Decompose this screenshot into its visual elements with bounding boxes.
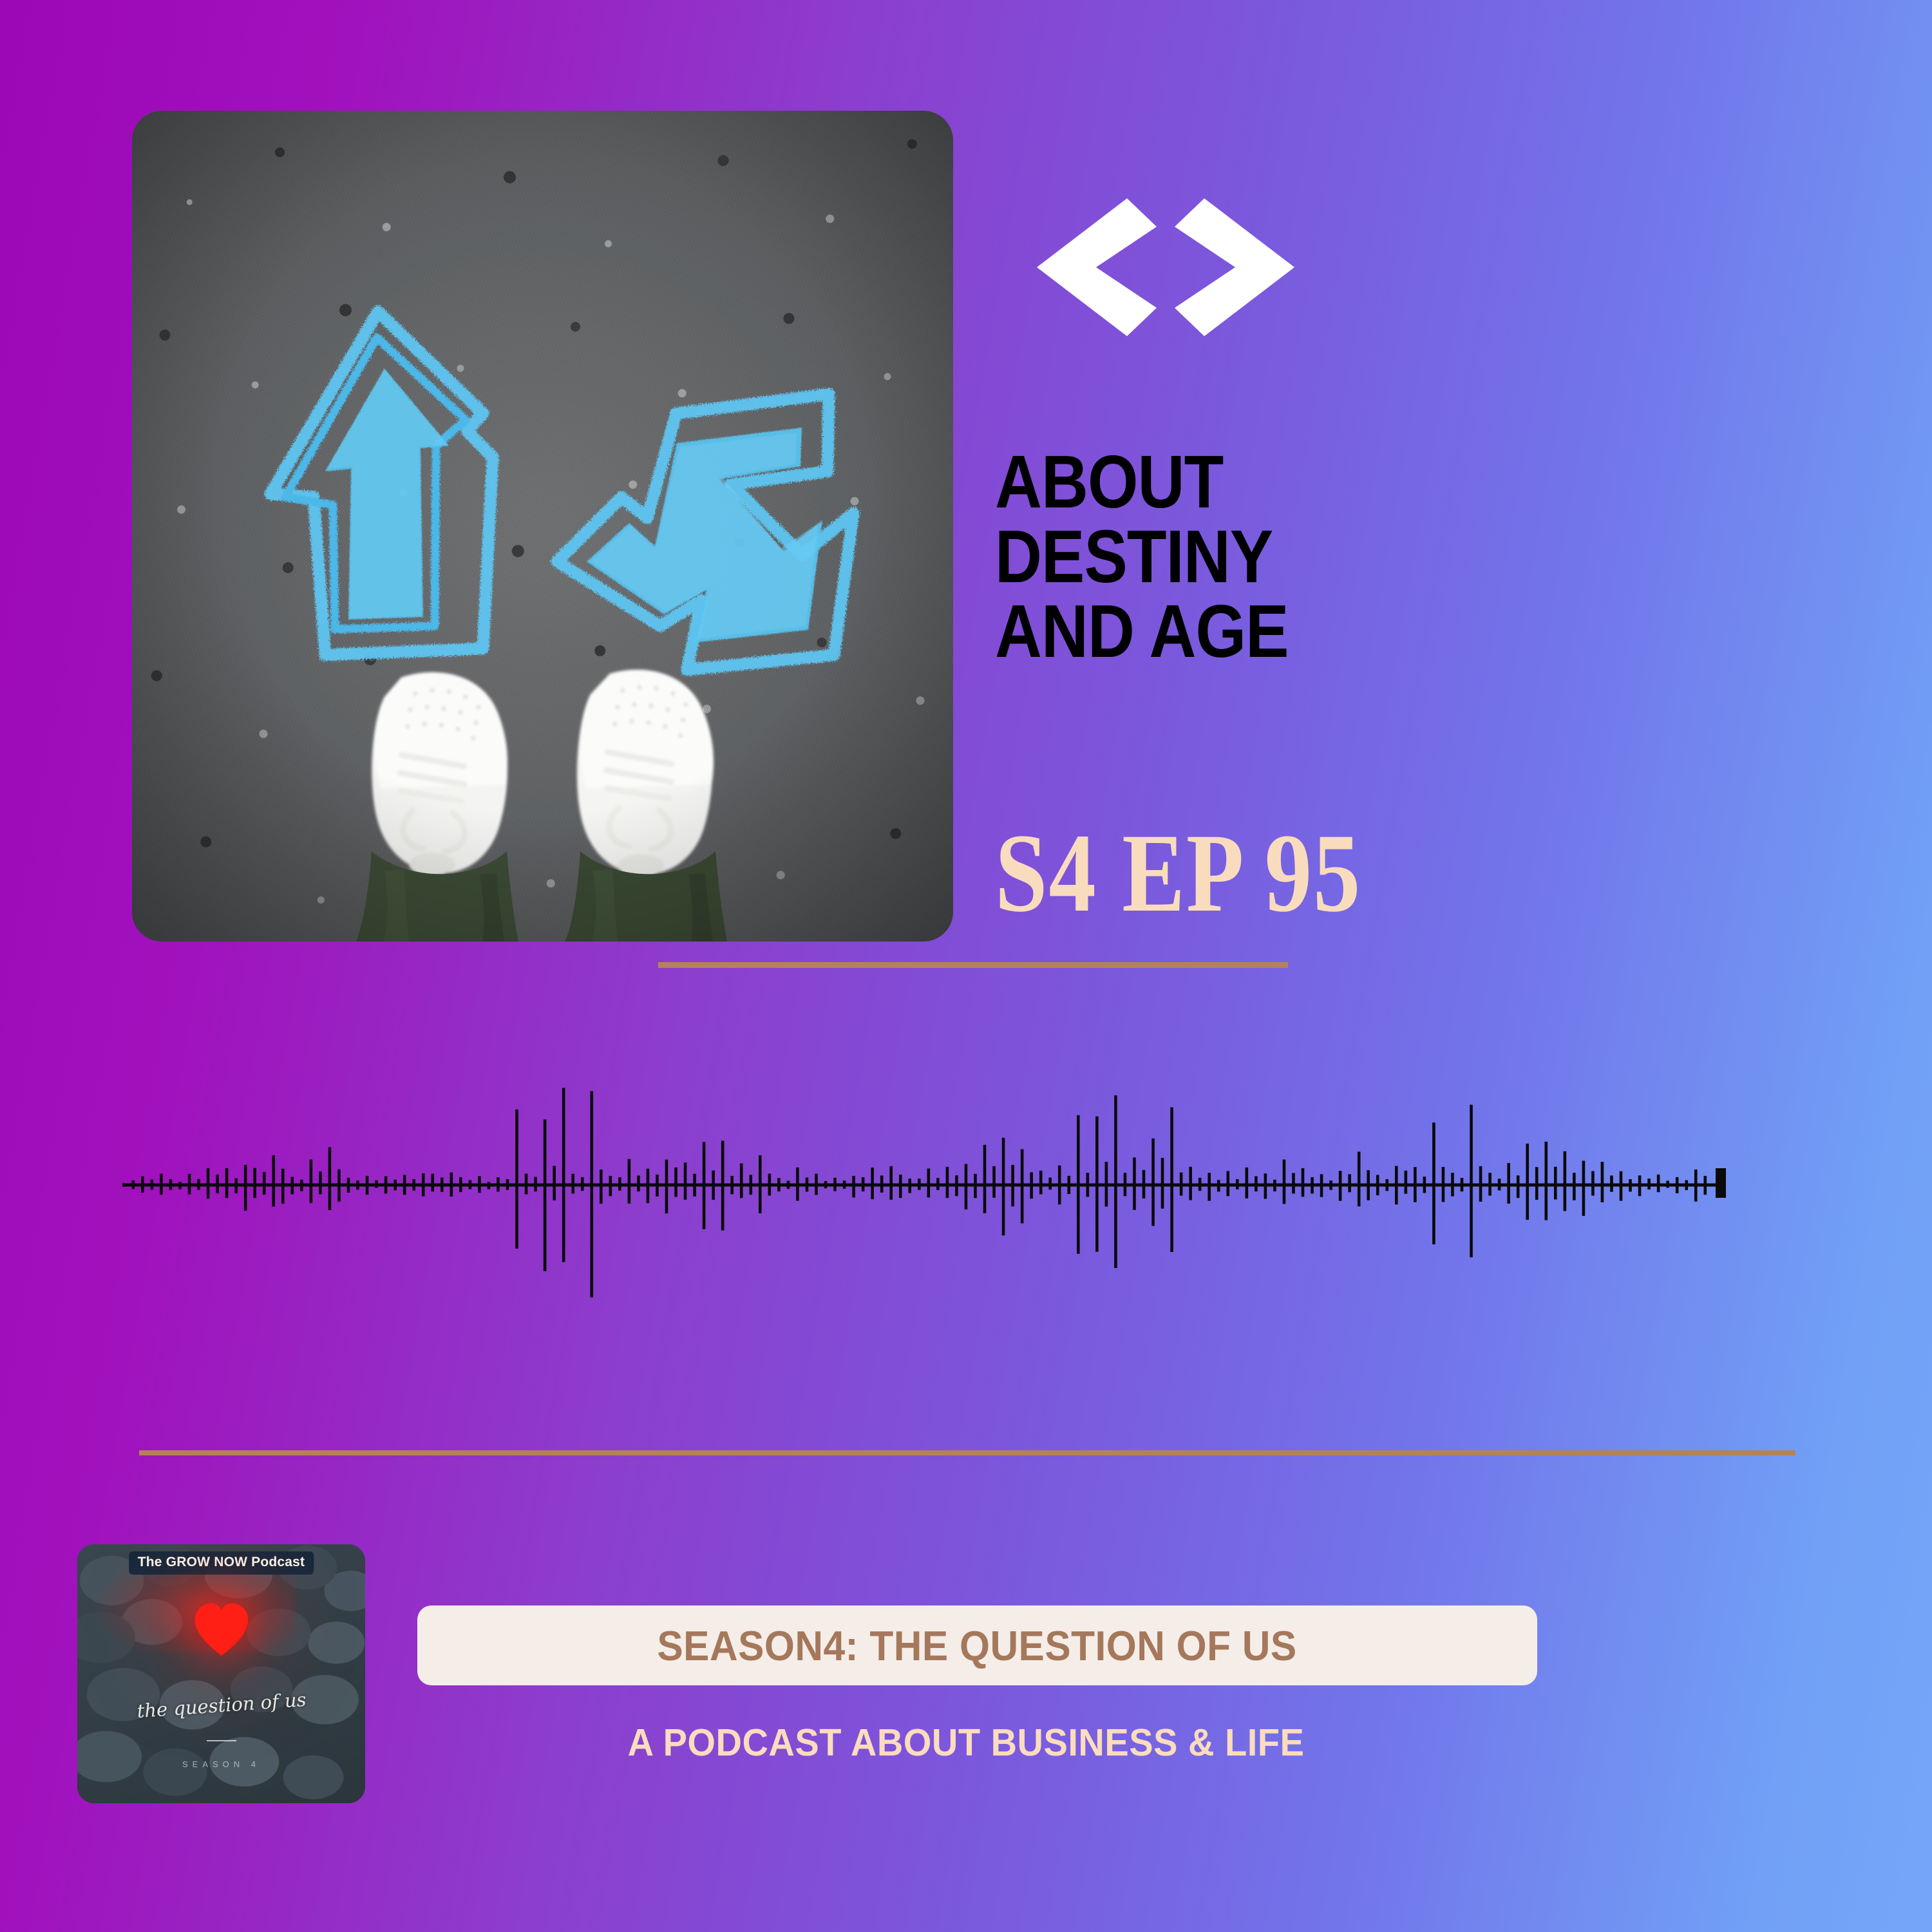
waveform-bar bbox=[862, 1177, 865, 1191]
waveform-bar bbox=[319, 1171, 322, 1194]
waveform-bar bbox=[1376, 1175, 1379, 1195]
waveform-bar bbox=[562, 1088, 565, 1262]
waveform-bar bbox=[1002, 1138, 1005, 1236]
waveform-bar bbox=[337, 1170, 341, 1202]
waveform-bar bbox=[525, 1174, 528, 1195]
waveform-bar bbox=[647, 1169, 650, 1203]
waveform-bar bbox=[281, 1169, 285, 1204]
waveform-bar bbox=[1311, 1177, 1314, 1194]
waveform-bar bbox=[918, 1179, 921, 1190]
waveform-bar bbox=[1666, 1180, 1669, 1188]
waveform-bar bbox=[1048, 1177, 1052, 1189]
waveform-bar bbox=[740, 1163, 743, 1198]
waveform-bar bbox=[1329, 1180, 1332, 1190]
waveform-bar bbox=[1638, 1175, 1642, 1196]
waveform-bar bbox=[478, 1176, 481, 1193]
divider-long bbox=[139, 1450, 1795, 1455]
waveform-bar bbox=[188, 1174, 191, 1195]
waveform-bar bbox=[1114, 1095, 1117, 1268]
waveform-bar bbox=[384, 1177, 388, 1194]
waveform-bar bbox=[1236, 1179, 1239, 1189]
waveform-bar bbox=[403, 1175, 406, 1195]
waveform-bar bbox=[1573, 1173, 1576, 1200]
waveform-bar bbox=[469, 1180, 472, 1189]
waveform-bar bbox=[843, 1180, 846, 1189]
waveform-bar bbox=[534, 1177, 537, 1191]
waveform-bar bbox=[1358, 1151, 1361, 1206]
waveform-bar bbox=[1535, 1167, 1539, 1200]
waveform-bar bbox=[488, 1182, 491, 1189]
waveform-bar bbox=[1161, 1158, 1164, 1209]
waveform-bar bbox=[1657, 1175, 1660, 1192]
waveform-bar bbox=[1498, 1179, 1501, 1190]
waveform-bar bbox=[1629, 1179, 1632, 1191]
waveform-bar bbox=[983, 1145, 987, 1213]
waveform-bar bbox=[412, 1179, 415, 1191]
waveform-bar bbox=[1348, 1174, 1351, 1192]
waveform-bar bbox=[1694, 1170, 1698, 1202]
waveform-bar bbox=[806, 1177, 809, 1191]
waveform-bar bbox=[1461, 1178, 1464, 1191]
waveform-bar bbox=[393, 1180, 397, 1191]
waveform-bar bbox=[1170, 1107, 1173, 1252]
waveform-bar bbox=[590, 1091, 593, 1297]
podcast-tagline: A PODCAST ABOUT BUSINESS & LIFE bbox=[0, 1721, 1932, 1765]
waveform-bar bbox=[693, 1174, 696, 1197]
waveform-bar bbox=[1517, 1175, 1520, 1198]
waveform-bar bbox=[1077, 1115, 1080, 1254]
waveform-bar bbox=[674, 1168, 677, 1197]
waveform-bar bbox=[946, 1167, 949, 1198]
season-badge-label: SEASON4: THE QUESTION OF US bbox=[658, 1622, 1297, 1670]
waveform-end-marker bbox=[1716, 1168, 1726, 1198]
waveform-bar bbox=[225, 1168, 229, 1198]
waveform-bar bbox=[992, 1166, 996, 1198]
waveform-bar bbox=[160, 1174, 163, 1195]
waveform-bar bbox=[1226, 1171, 1229, 1196]
waveform-bar bbox=[1395, 1166, 1398, 1204]
waveform-bar bbox=[1320, 1174, 1323, 1197]
waveform-bar bbox=[1479, 1166, 1482, 1202]
waveform-bar bbox=[1339, 1171, 1342, 1201]
waveform-bar bbox=[759, 1155, 762, 1213]
waveform-bar bbox=[974, 1174, 977, 1198]
waveform-bar bbox=[1030, 1172, 1033, 1198]
waveform-bar bbox=[1086, 1173, 1090, 1197]
waveform-bar bbox=[553, 1166, 556, 1200]
waveform-bar bbox=[431, 1174, 434, 1191]
waveform-bar bbox=[1470, 1104, 1473, 1257]
waveform-baseline bbox=[122, 1184, 1725, 1187]
waveform-bar bbox=[151, 1180, 154, 1190]
waveform-bar bbox=[1544, 1142, 1548, 1220]
waveform-bar bbox=[141, 1177, 144, 1193]
waveform-bar bbox=[581, 1177, 584, 1191]
waveform-bar bbox=[1264, 1173, 1267, 1199]
waveform-bar bbox=[366, 1176, 369, 1195]
waveform-bar bbox=[1124, 1173, 1127, 1196]
waveform-bar bbox=[703, 1142, 706, 1229]
waveform-bar bbox=[197, 1179, 200, 1190]
waveform-bar bbox=[216, 1175, 219, 1193]
episode-number: S4 EP 95 bbox=[995, 808, 1361, 938]
waveform-bar bbox=[1180, 1172, 1183, 1195]
waveform-bar bbox=[1601, 1162, 1604, 1202]
waveform-bar bbox=[936, 1178, 940, 1190]
waveform-bar bbox=[1432, 1122, 1435, 1244]
waveform-bar bbox=[749, 1175, 752, 1195]
waveform-bar bbox=[777, 1178, 781, 1191]
chalk-arrows-and-feet bbox=[132, 111, 953, 942]
waveform-bar bbox=[1620, 1171, 1623, 1201]
waveform-bar bbox=[272, 1155, 275, 1207]
waveform-bar bbox=[730, 1176, 734, 1195]
title-line-2: DESTINY bbox=[995, 519, 1723, 594]
waveform-bar bbox=[721, 1141, 724, 1230]
waveform-bar bbox=[1507, 1163, 1510, 1204]
waveform-bar bbox=[450, 1172, 453, 1197]
waveform-bar bbox=[1405, 1171, 1408, 1194]
waveform-bar bbox=[927, 1168, 931, 1197]
waveform-bar bbox=[1283, 1159, 1286, 1204]
episode-photo bbox=[132, 111, 953, 942]
waveform-bar bbox=[965, 1164, 968, 1209]
waveform-bar bbox=[1564, 1151, 1567, 1211]
waveform-bar bbox=[609, 1176, 612, 1196]
waveform-bar bbox=[768, 1174, 772, 1196]
waveform-bar bbox=[665, 1160, 668, 1214]
waveform-bar bbox=[684, 1162, 687, 1200]
waveform-bar bbox=[871, 1168, 874, 1199]
waveform-bar bbox=[544, 1119, 547, 1271]
waveform-bar bbox=[347, 1178, 350, 1193]
waveform-bar bbox=[1591, 1171, 1595, 1195]
waveform-bar bbox=[132, 1180, 135, 1189]
waveform-bar bbox=[1039, 1171, 1043, 1195]
waveform-bar bbox=[899, 1175, 902, 1198]
waveform-bar bbox=[1488, 1173, 1492, 1195]
waveform-bar bbox=[1554, 1167, 1557, 1200]
waveform-bar bbox=[1703, 1176, 1707, 1195]
waveform-bar bbox=[908, 1179, 911, 1193]
title-line-1: ABOUT bbox=[995, 444, 1723, 519]
waveform-bar bbox=[1067, 1176, 1070, 1194]
waveform-bar bbox=[1133, 1157, 1136, 1210]
waveform-bar bbox=[1442, 1167, 1445, 1202]
waveform-bar bbox=[234, 1179, 238, 1193]
waveform-bar bbox=[422, 1173, 425, 1197]
waveform-bar bbox=[1207, 1173, 1211, 1201]
waveform-bar bbox=[515, 1110, 518, 1249]
page-title: ABOUT DESTINY AND AGE bbox=[995, 444, 1723, 668]
waveform-bar bbox=[787, 1180, 790, 1189]
waveform-bar bbox=[1142, 1170, 1146, 1198]
waveform-bar bbox=[310, 1159, 313, 1203]
season-badge: SEASON4: THE QUESTION OF US bbox=[417, 1605, 1537, 1685]
waveform-bar bbox=[1414, 1167, 1417, 1202]
waveform-bar bbox=[1217, 1180, 1220, 1191]
waveform-bar bbox=[263, 1172, 266, 1195]
waveform-bar bbox=[291, 1177, 294, 1194]
waveform-bar bbox=[1676, 1177, 1679, 1193]
waveform-bar bbox=[1582, 1160, 1586, 1216]
waveform-bar bbox=[1526, 1144, 1529, 1220]
heart-icon bbox=[191, 1600, 252, 1660]
waveform-bar bbox=[600, 1170, 603, 1204]
chevron-pair-icon bbox=[1030, 193, 1301, 345]
waveform-bar bbox=[244, 1165, 247, 1211]
waveform-bar bbox=[1292, 1173, 1295, 1193]
waveform-bar bbox=[122, 1183, 126, 1187]
waveform-bar bbox=[207, 1168, 210, 1198]
waveform-bar bbox=[1451, 1173, 1454, 1197]
waveform-bar bbox=[1255, 1176, 1258, 1191]
waveform-bar bbox=[253, 1168, 256, 1198]
tagline-label: A PODCAST ABOUT BUSINESS & LIFE bbox=[628, 1721, 1305, 1765]
waveform-bar bbox=[889, 1166, 893, 1200]
waveform-bar bbox=[178, 1182, 182, 1189]
waveform-bar bbox=[356, 1180, 359, 1189]
waveform-bar bbox=[1095, 1116, 1099, 1251]
waveform-bar bbox=[375, 1180, 378, 1188]
waveform-bar bbox=[1058, 1166, 1061, 1205]
waveform-bar bbox=[852, 1176, 855, 1198]
waveform-bar bbox=[1385, 1179, 1388, 1191]
waveform-bar bbox=[300, 1180, 303, 1191]
waveform-bar bbox=[880, 1175, 884, 1192]
waveform-bar bbox=[955, 1175, 958, 1196]
waveform-bar bbox=[1189, 1167, 1192, 1200]
waveform-bar bbox=[796, 1168, 799, 1201]
waveform-bar bbox=[1423, 1177, 1426, 1193]
waveform-bar bbox=[815, 1174, 818, 1195]
waveform-bar bbox=[1367, 1170, 1370, 1200]
waveform-bar bbox=[1011, 1165, 1014, 1206]
waveform-bar bbox=[1685, 1180, 1688, 1190]
waveform-bar bbox=[656, 1175, 659, 1197]
waveform-bar bbox=[833, 1178, 837, 1191]
waveform-bar bbox=[1302, 1168, 1305, 1197]
waveform-bar bbox=[1245, 1168, 1249, 1198]
waveform-bar bbox=[618, 1177, 621, 1191]
waveform-bar bbox=[628, 1159, 631, 1204]
waveform-bar bbox=[169, 1179, 173, 1190]
waveform-bar bbox=[824, 1181, 828, 1188]
waveform-bar bbox=[440, 1177, 444, 1191]
waveform-bar bbox=[497, 1177, 500, 1191]
waveform-bar bbox=[712, 1171, 715, 1200]
waveform-bar bbox=[1151, 1139, 1155, 1226]
title-line-3: AND AGE bbox=[995, 594, 1723, 668]
waveform-bar bbox=[1610, 1175, 1613, 1191]
waveform-bar bbox=[1105, 1162, 1108, 1207]
waveform-bar bbox=[1198, 1178, 1202, 1191]
waveform-bar bbox=[571, 1174, 574, 1194]
waveform-bar bbox=[459, 1177, 462, 1192]
waveform-bar bbox=[328, 1147, 332, 1210]
waveform-bar bbox=[1021, 1149, 1024, 1223]
waveform-bar bbox=[1647, 1179, 1651, 1189]
cover-brand-pill: The GROW NOW Podcast bbox=[129, 1551, 314, 1575]
waveform-bar bbox=[637, 1175, 640, 1191]
waveform-bar bbox=[1273, 1180, 1276, 1191]
waveform-bar bbox=[506, 1179, 509, 1190]
divider-short bbox=[658, 962, 1288, 968]
audio-waveform bbox=[122, 1024, 1732, 1346]
